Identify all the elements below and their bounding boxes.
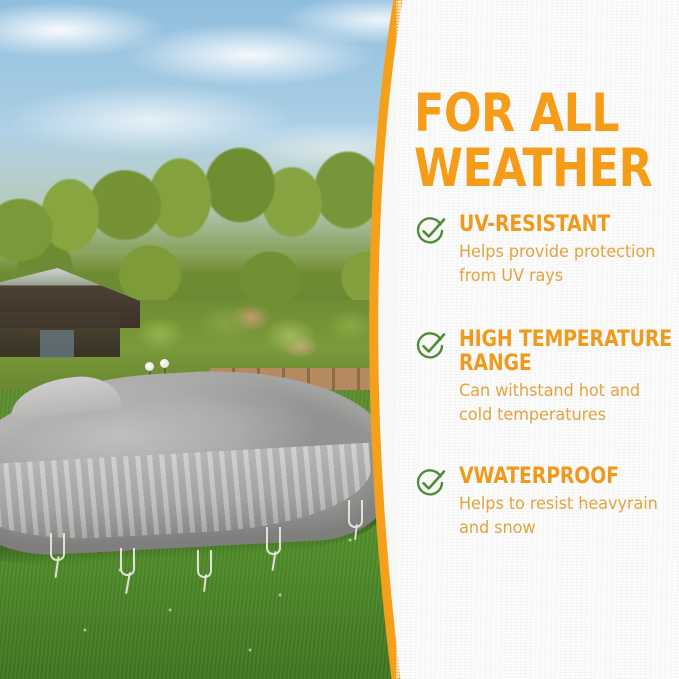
feature-title: VWATERPROOF — [459, 465, 675, 489]
feature-description: Helps provide protection from UV rays — [459, 240, 675, 288]
feature-title: UV-RESISTANT — [459, 213, 675, 237]
feature-text-block: VWATERPROOF Helps to resist heavyrain an… — [459, 465, 676, 540]
feature-text-block: HIGH TEMPERATURE RANGE Can withstand hot… — [459, 328, 676, 427]
feature-title: HIGH TEMPERATURE RANGE — [459, 328, 675, 376]
feature-item-high-temperature-range: HIGH TEMPERATURE RANGE Can withstand hot… — [414, 328, 676, 427]
feature-description: Helps to resist heavyrain and snow — [459, 492, 675, 540]
feature-item-uv-resistant: UV-RESISTANT Helps provide protection fr… — [414, 213, 676, 288]
feature-description: Can withstand hot and cold temperatures — [459, 379, 675, 427]
feature-text-block: UV-RESISTANT Helps provide protection fr… — [459, 213, 676, 288]
feature-list: UV-RESISTANT Helps provide protection fr… — [414, 213, 676, 564]
page-title: FOR ALL WEATHER — [414, 86, 658, 196]
check-circle-icon — [414, 215, 446, 247]
garden-lamp-globe — [145, 362, 154, 371]
headline-line-1: FOR ALL — [414, 86, 658, 141]
panel-content: FOR ALL WEATHER UV-RESISTANT Helps provi… — [414, 0, 676, 679]
check-circle-icon — [414, 330, 446, 362]
headline-line-2: WEATHER — [414, 141, 658, 196]
product-photo — [0, 0, 430, 679]
garden-lamp-globe — [160, 359, 169, 368]
shed-door — [40, 330, 74, 358]
infographic-canvas: FOR ALL WEATHER UV-RESISTANT Helps provi… — [0, 0, 679, 679]
tie-down-cord — [120, 548, 135, 576]
check-circle-icon — [414, 467, 446, 499]
feature-item-waterproof: VWATERPROOF Helps to resist heavyrain an… — [414, 465, 676, 540]
